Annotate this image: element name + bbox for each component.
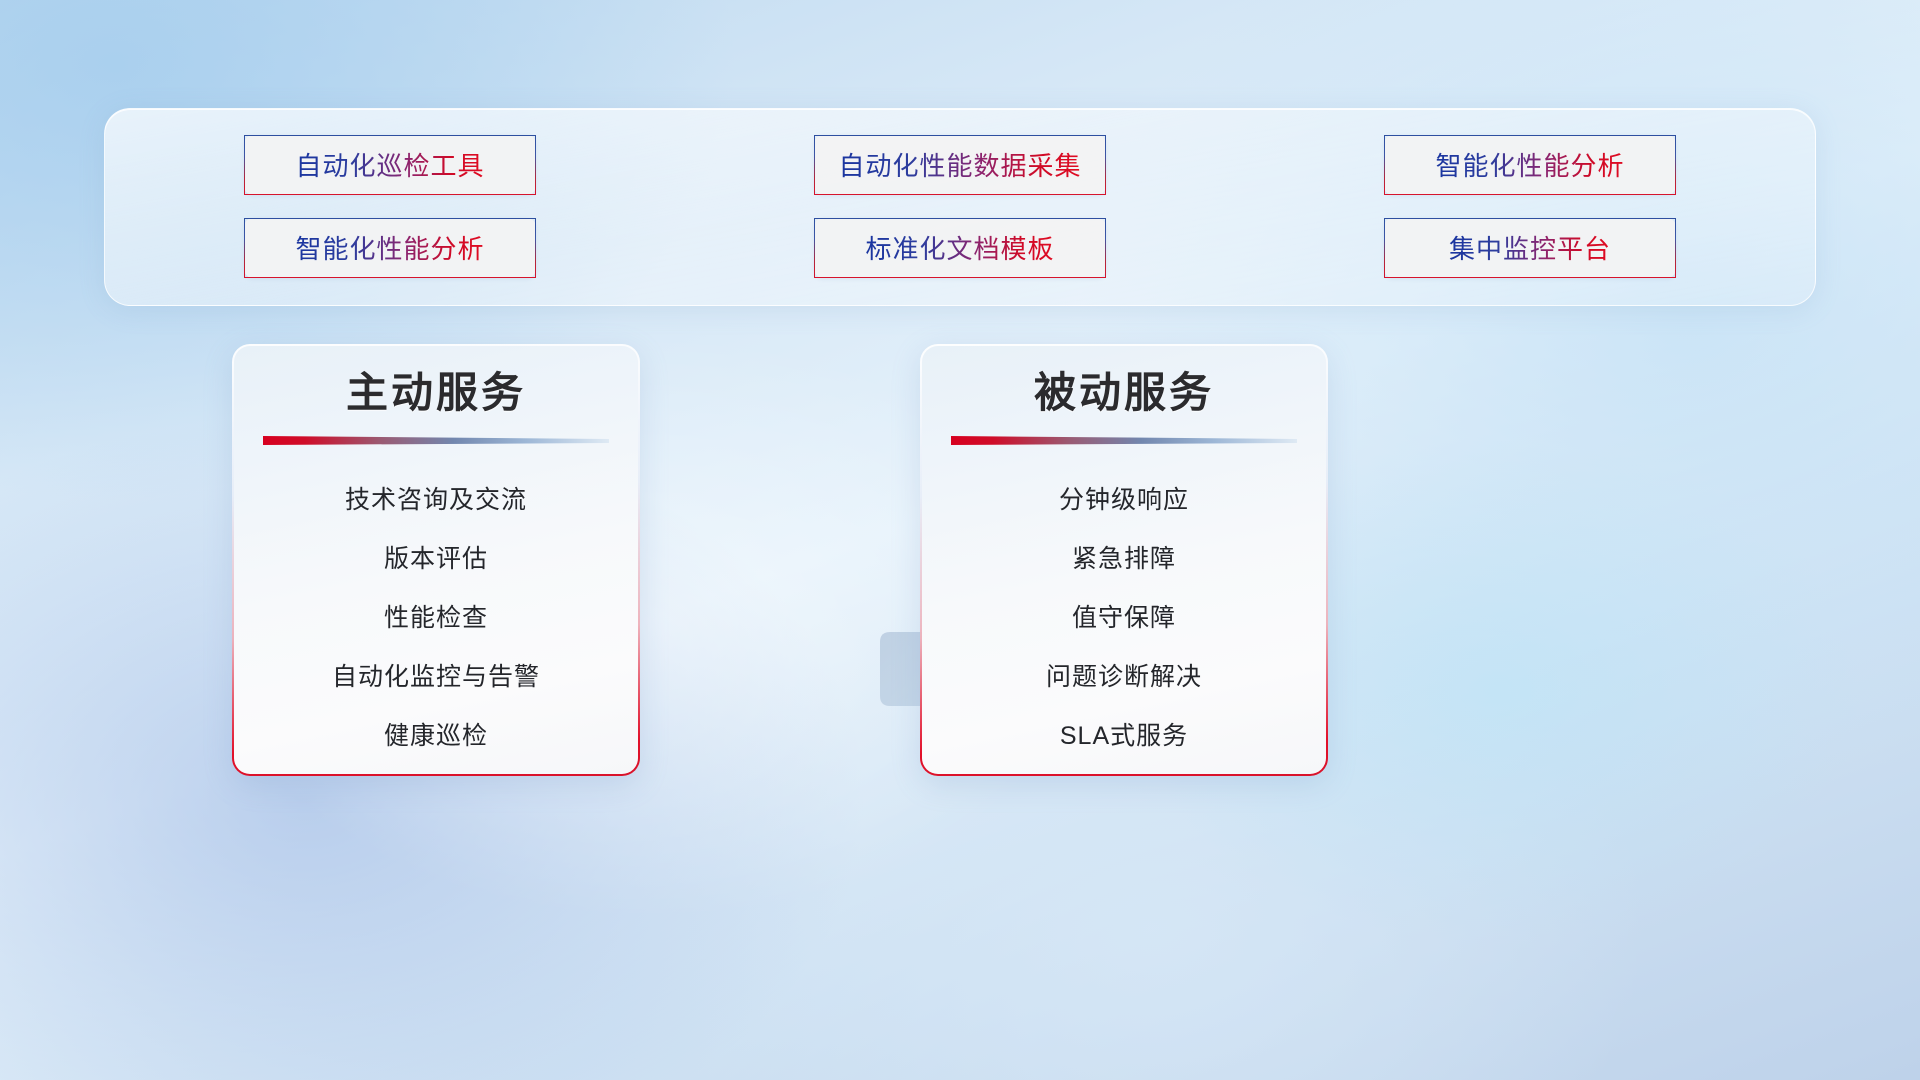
service-card-title: 被动服务 bbox=[1034, 368, 1214, 418]
service-item: 分钟级响应 bbox=[1059, 468, 1189, 527]
capability-tag-label: 自动化巡检工具 bbox=[295, 146, 484, 183]
capability-tag-4[interactable]: 标准化文档模板 bbox=[814, 218, 1106, 278]
service-item: 技术咨询及交流 bbox=[345, 468, 527, 527]
service-item: 紧急排障 bbox=[1072, 527, 1176, 586]
capability-tag-label: 自动化性能数据采集 bbox=[838, 146, 1081, 183]
title-divider bbox=[263, 434, 609, 446]
service-item-list: 分钟级响应 紧急排障 值守保障 问题诊断解决 SLA式服务 bbox=[922, 468, 1326, 763]
service-card-title: 主动服务 bbox=[346, 368, 526, 418]
capability-tag-panel: 自动化巡检工具 自动化性能数据采集 智能化性能分析 智能化性能分析 标准化文档模… bbox=[104, 108, 1816, 306]
service-item-list: 技术咨询及交流 版本评估 性能检查 自动化监控与告警 健康巡检 bbox=[234, 468, 638, 763]
service-item: 健康巡检 bbox=[384, 704, 488, 763]
slide-canvas: 自动化巡检工具 自动化性能数据采集 智能化性能分析 智能化性能分析 标准化文档模… bbox=[0, 0, 1920, 1080]
capability-tag-1[interactable]: 自动化性能数据采集 bbox=[814, 135, 1106, 195]
capability-tag-label: 集中监控平台 bbox=[1449, 229, 1611, 266]
title-divider bbox=[951, 434, 1297, 446]
service-card-body: 被动服务 bbox=[922, 346, 1326, 774]
capability-tag-5[interactable]: 集中监控平台 bbox=[1384, 218, 1676, 278]
service-item: 值守保障 bbox=[1072, 586, 1176, 645]
service-item: 版本评估 bbox=[384, 527, 488, 586]
capability-tag-2[interactable]: 智能化性能分析 bbox=[1384, 135, 1676, 195]
divider-gradient-icon bbox=[951, 434, 1297, 446]
divider-gradient-icon bbox=[263, 434, 609, 446]
service-item: 性能检查 bbox=[384, 586, 488, 645]
service-item: 问题诊断解决 bbox=[1046, 645, 1202, 704]
capability-tag-label: 标准化文档模板 bbox=[865, 229, 1054, 266]
capability-tag-label: 智能化性能分析 bbox=[295, 229, 484, 266]
service-card-body: 主动服务 bbox=[234, 346, 638, 774]
service-item: SLA式服务 bbox=[1060, 704, 1188, 763]
capability-tag-label: 智能化性能分析 bbox=[1435, 146, 1624, 183]
service-card-reactive: 被动服务 bbox=[920, 344, 1328, 776]
service-card-proactive: 主动服务 bbox=[232, 344, 640, 776]
capability-tag-3[interactable]: 智能化性能分析 bbox=[244, 218, 536, 278]
service-item: 自动化监控与告警 bbox=[332, 645, 540, 704]
capability-tag-0[interactable]: 自动化巡检工具 bbox=[244, 135, 536, 195]
